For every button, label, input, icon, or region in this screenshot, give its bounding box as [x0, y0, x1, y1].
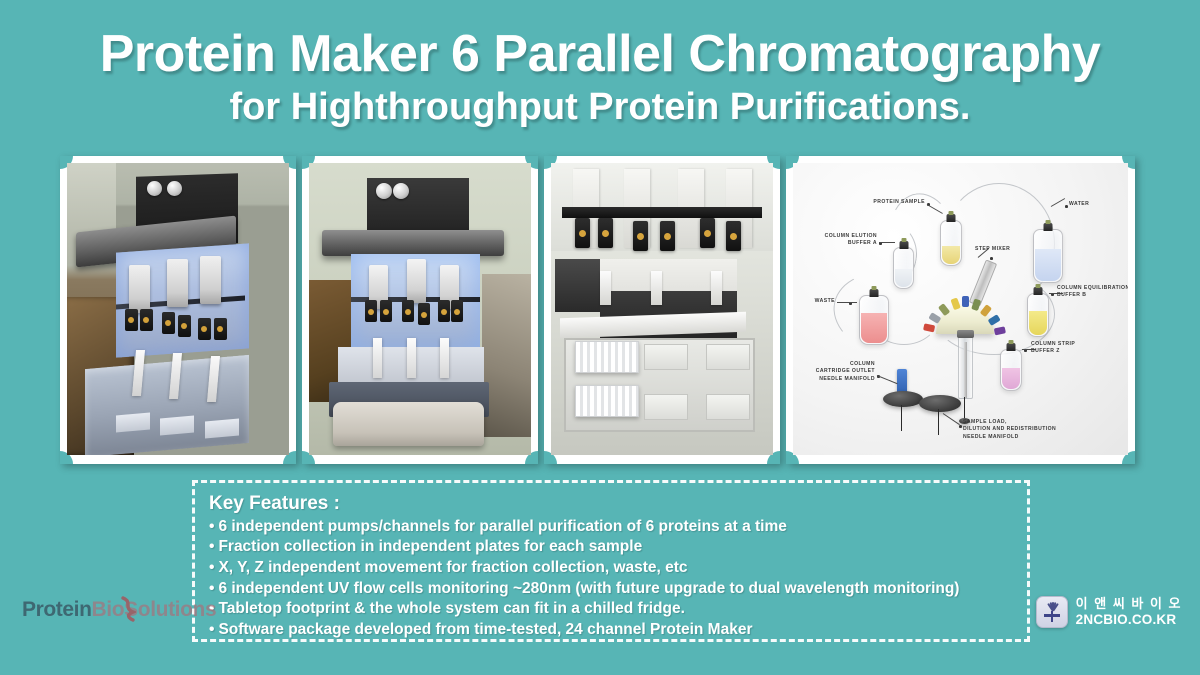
photo-panel-1 [60, 156, 296, 464]
key-feature-item: •Tabletop footprint & the whole system c… [209, 599, 1015, 620]
logo-korean-text: 이 앤 씨 바 이 오 [1076, 597, 1182, 612]
logo-url-text: 2NCBIO.CO.KR [1076, 612, 1182, 627]
diagram-label-column-cartridge-outlet-needle-manifold: COLUMN CARTRIDGE OUTLET NEEDLE MANIFOLD [799, 361, 875, 383]
2ncbio-logo-text: 이 앤 씨 바 이 오 2NCBIO.CO.KR [1076, 597, 1182, 627]
media-strip: PROTEIN SAMPLE WATER COLUMN ELUTION BUFF… [60, 156, 1135, 464]
photo-panel-2 [302, 156, 538, 464]
protein-biosolutions-logo: ProteinBioSolutions [22, 598, 216, 622]
key-feature-text: X, Y, Z independent movement for fractio… [218, 559, 687, 576]
instrument-photo-front [309, 163, 531, 455]
fluidics-diagram-panel: PROTEIN SAMPLE WATER COLUMN ELUTION BUFF… [786, 156, 1135, 464]
slide-root: Protein Maker 6 Parallel Chromatography … [0, 0, 1200, 675]
key-feature-text: Tabletop footprint & the whole system ca… [218, 600, 684, 617]
instrument-photo-angled [67, 163, 289, 455]
title-block: Protein Maker 6 Parallel Chromatography … [0, 26, 1200, 130]
key-feature-item: •Fraction collection in independent plat… [209, 537, 1015, 558]
diagram-label-column-elution-buffer-a: COLUMN ELUTION BUFFER A [807, 233, 877, 248]
key-feature-text: 6 independent UV flow cells monitoring ~… [218, 580, 959, 597]
bullet-icon: • [209, 518, 214, 535]
diagram-label-protein-sample: PROTEIN SAMPLE [853, 199, 925, 206]
diagram-label-column-strip-buffer-z: COLUMN STRIP BUFFER Z [1031, 341, 1075, 356]
water-bottle [1033, 229, 1063, 283]
key-feature-text: Software package developed from time-tes… [218, 621, 752, 638]
syringe-pump [958, 335, 973, 399]
bullet-icon: • [209, 621, 214, 638]
column-equilibration-buffer-b-bottle [1027, 293, 1049, 337]
2ncbio-logo: 이 앤 씨 바 이 오 2NCBIO.CO.KR [1036, 596, 1182, 628]
diagram-label-water: WATER [1069, 201, 1089, 208]
key-features-title: Key Features : [209, 492, 1015, 516]
bullet-icon: • [209, 580, 214, 597]
diagram-label-column-equilibration-buffer-b: COLUMN EQUILIBRATION BUFFER B [1057, 285, 1128, 300]
column-elution-buffer-a-bottle [893, 247, 914, 289]
2ncbio-mark-icon [1036, 596, 1068, 628]
bullet-icon: • [209, 559, 214, 576]
key-feature-item: •6 independent pumps/channels for parall… [209, 517, 1015, 538]
diagram-label-step-mixer: STEP MIXER [975, 246, 1010, 253]
key-feature-item: •Software package developed from time-te… [209, 620, 1015, 641]
protein-sample-bottle [940, 220, 962, 266]
bullet-icon: • [209, 538, 214, 555]
diagram-label-sample-load-dilution-redistribution-needle-manifold: SAMPLE LOAD, DILUTION AND REDISTRIBUTION… [963, 419, 1056, 441]
key-feature-item: •6 independent UV flow cells monitoring … [209, 579, 1015, 600]
deck-closeup-photo [551, 163, 773, 455]
photo-panel-3 [544, 156, 780, 464]
column-cartridge-outlet-needle-manifold [883, 391, 923, 407]
waste-bottle [859, 295, 889, 345]
page-title: Protein Maker 6 Parallel Chromatography [0, 26, 1200, 82]
fluidics-diagram: PROTEIN SAMPLE WATER COLUMN ELUTION BUFF… [793, 163, 1128, 455]
key-features-box: Key Features : •6 independent pumps/chan… [192, 480, 1030, 642]
sample-load-needle-manifold [919, 395, 961, 412]
logo-text-biosolutions: BioSolutions [92, 598, 217, 621]
dna-helix-icon [120, 596, 136, 622]
key-feature-text: 6 independent pumps/channels for paralle… [218, 518, 786, 535]
column-strip-buffer-z-bottle [1000, 349, 1022, 391]
page-subtitle: for Highthroughput Protein Purifications… [0, 86, 1200, 130]
logo-text-protein: Protein [22, 598, 92, 621]
key-feature-text: Fraction collection in independent plate… [218, 538, 642, 555]
diagram-label-waste: WASTE [801, 298, 835, 305]
key-feature-item: •X, Y, Z independent movement for fracti… [209, 558, 1015, 579]
